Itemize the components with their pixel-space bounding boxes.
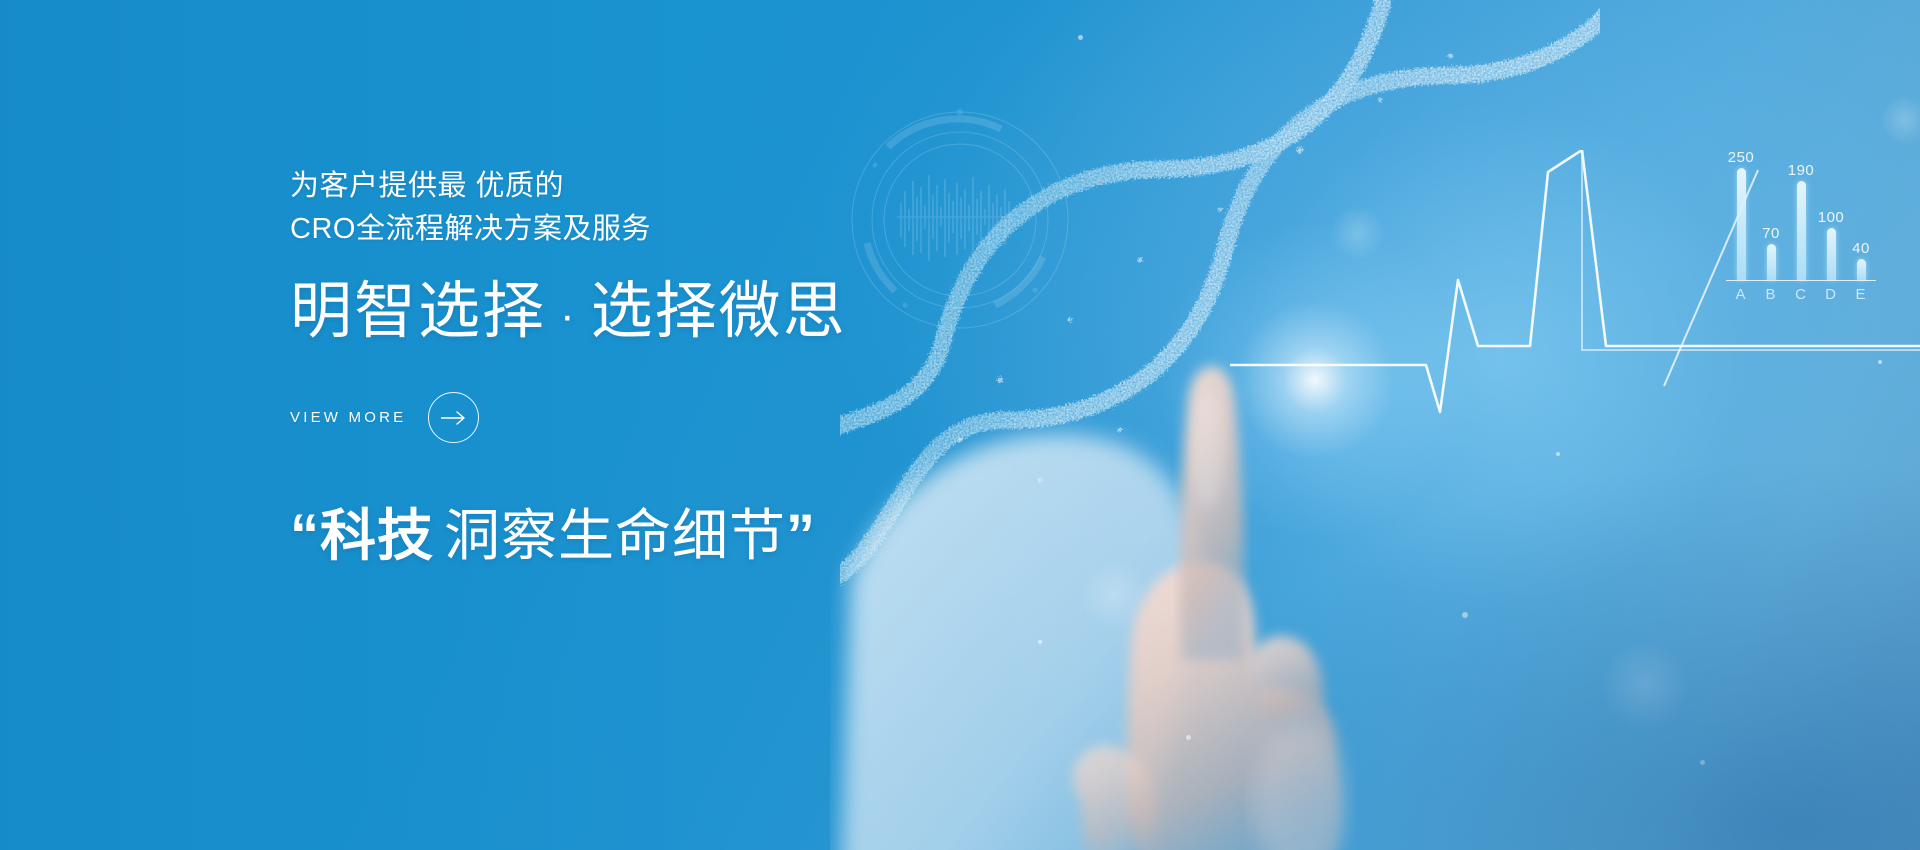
hero-banner: 2507019010040 ABCDE 为客户提供最 优质的 CRO全流程解决方… [0, 0, 1920, 850]
headline-separator: · [546, 291, 591, 340]
bokeh-dot [1880, 95, 1920, 145]
bar-value-label: 40 [1852, 241, 1870, 256]
page-title: 明智选择·选择微思 [290, 277, 1010, 346]
bar-rect [1857, 259, 1866, 280]
bar-chart: 2507019010040 ABCDE [1718, 150, 1913, 325]
hero-subtitle-line-1: 为客户提供最 优质的 [290, 165, 1010, 208]
quote-close-mark: ” [786, 503, 816, 568]
quote-strong-text: 科技 [320, 504, 434, 567]
bar-B: 70 [1756, 150, 1786, 280]
bar-E: 40 [1846, 150, 1876, 280]
headline-right-text: 选择微思 [591, 277, 847, 346]
bar-rect [1827, 228, 1836, 280]
chart-plot-area: 2507019010040 [1726, 150, 1876, 280]
chart-x-axis [1726, 280, 1876, 281]
chart-x-tick-labels: ABCDE [1726, 286, 1876, 303]
view-more-label: VIEW MORE [290, 409, 406, 426]
quote-light-text: 洞察生命细节 [434, 504, 786, 567]
bar-value-label: 100 [1818, 210, 1845, 225]
chart-tick-A: A [1726, 286, 1756, 303]
chart-tick-C: C [1786, 286, 1816, 303]
chart-tick-D: D [1816, 286, 1846, 303]
bar-rect [1797, 181, 1806, 280]
hero-subtitle-line-2: CRO全流程解决方案及服务 [290, 208, 1010, 251]
bar-value-label: 70 [1762, 226, 1780, 241]
headline-left-text: 明智选择 [290, 277, 546, 346]
chart-tick-B: B [1756, 286, 1786, 303]
chart-tick-E: E [1846, 286, 1876, 303]
quote-open-mark: “ [290, 503, 320, 568]
hero-subtitle: 为客户提供最 优质的 CRO全流程解决方案及服务 [290, 165, 1010, 251]
bar-C: 190 [1786, 150, 1816, 280]
bar-rect [1767, 244, 1776, 280]
bar-value-label: 190 [1788, 163, 1815, 178]
hero-content: 为客户提供最 优质的 CRO全流程解决方案及服务 明智选择·选择微思 VIEW … [290, 0, 1010, 850]
bar-A: 250 [1726, 150, 1756, 280]
view-more-button[interactable]: VIEW MORE [290, 392, 479, 443]
bar-rect [1737, 168, 1746, 280]
hero-quote: “科技洞察生命细节” [290, 501, 1010, 571]
bar-D: 100 [1816, 150, 1846, 280]
bar-value-label: 250 [1728, 150, 1755, 165]
arrow-right-icon[interactable] [428, 392, 479, 443]
